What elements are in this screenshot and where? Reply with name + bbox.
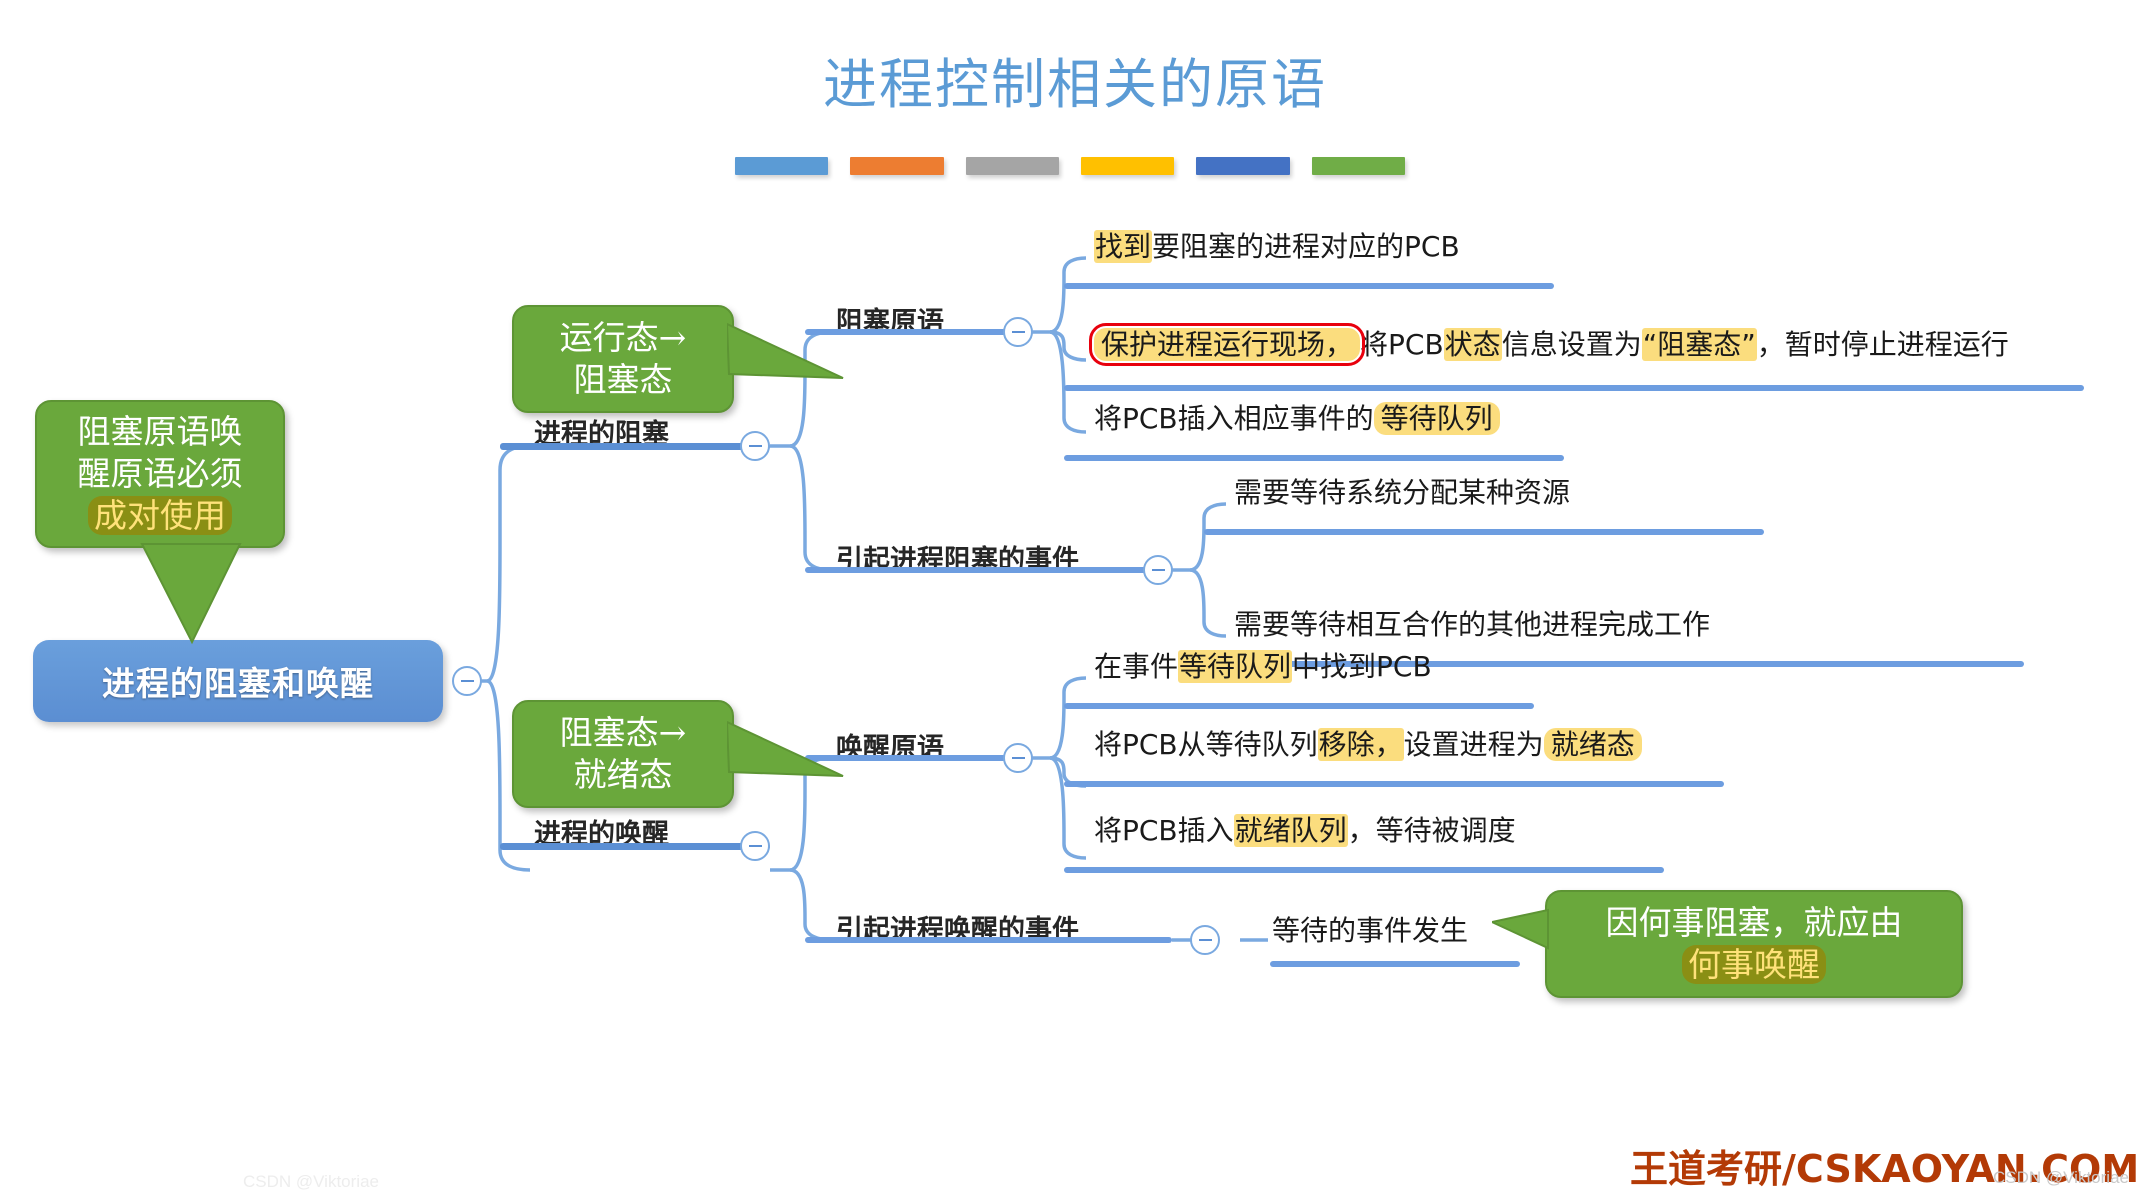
leaf-underline-find-pcb-in-queue xyxy=(1064,703,1534,709)
root-node[interactable]: 进程的阻塞和唤醒 xyxy=(33,640,443,722)
branch-underline-wake xyxy=(500,843,770,850)
callout-pair-line2: 醒原语必须 xyxy=(78,453,243,495)
callout-block-to-ready-tail xyxy=(727,718,847,790)
collapse-toggle-block-primitive[interactable] xyxy=(1003,317,1033,347)
collapse-toggle-wake-primitive[interactable] xyxy=(1003,743,1033,773)
leaf-find-pcb[interactable]: 找到要阻塞的进程对应的PCB xyxy=(1094,232,1460,263)
leaf-insert-ready-queue-hl: 就绪队列 xyxy=(1234,814,1348,847)
leaf-remove-from-queue-p2: 设置进程为 xyxy=(1404,728,1544,761)
csdn-watermark-ghost: CSDN @Viktoriae xyxy=(243,1172,379,1192)
leaf-protect-scene-hl: 保护进程运行现场， xyxy=(1094,328,1360,361)
leaf-underline-insert-wait-queue xyxy=(1064,455,1564,461)
accent-bar-orange xyxy=(850,157,943,175)
leaf-underline-insert-ready-queue xyxy=(1064,867,1664,873)
leaf-protect-scene-p2: 信息设置为 xyxy=(1502,328,1642,361)
accent-bar-navy xyxy=(1196,157,1289,175)
leaf-underline-protect-scene xyxy=(1064,385,2084,391)
accent-bar-green xyxy=(1312,157,1405,175)
leaf-wait-resource[interactable]: 需要等待系统分配某种资源 xyxy=(1234,478,1570,509)
callout-block-to-ready: 阻塞态→ 就绪态 xyxy=(512,700,734,808)
page-title: 进程控制相关的原语 xyxy=(0,40,2150,119)
callout-block-to-ready-line2: 就绪态 xyxy=(574,754,673,796)
leaf-protect-scene-p3: ，暂时停止进程运行 xyxy=(1757,328,2009,361)
leaf-remove-from-queue[interactable]: 将PCB从等待队列移除，设置进程为就绪态 xyxy=(1094,730,1642,761)
callout-pair-usage: 阻塞原语唤 醒原语必须 成对使用 xyxy=(35,400,285,548)
leaf-underline-event-occurs xyxy=(1270,961,1520,967)
branch-underline-block xyxy=(500,443,770,450)
callout-why-wake-tail xyxy=(1492,908,1552,958)
leaf-remove-from-queue-hl2: 就绪态 xyxy=(1544,728,1642,761)
csdn-watermark: CSDN @Viktoriae xyxy=(1993,1168,2129,1188)
leaf-find-pcb-in-queue-p2: 中找到PCB xyxy=(1292,650,1432,683)
callout-pair-line1: 阻塞原语唤 xyxy=(78,411,243,453)
collapse-toggle-block-events[interactable] xyxy=(1143,555,1173,585)
leaf-event-occurs[interactable]: 等待的事件发生 xyxy=(1272,916,1468,947)
collapse-toggle-block[interactable] xyxy=(740,431,770,461)
leaf-protect-scene-hl2: 状态 xyxy=(1444,328,1502,361)
callout-why-wake-line2: 何事唤醒 xyxy=(1682,945,1826,984)
accent-bar-blue xyxy=(735,157,828,175)
accent-bar-gold xyxy=(1081,157,1174,175)
connector-wires xyxy=(0,0,2150,1200)
leaf-find-pcb-in-queue[interactable]: 在事件等待队列中找到PCB xyxy=(1094,652,1432,683)
leaf-wait-cooperate[interactable]: 需要等待相互合作的其他进程完成工作 xyxy=(1234,610,1710,641)
leaf-underline-wait-resource xyxy=(1204,529,1764,535)
callout-pair-line3: 成对使用 xyxy=(88,496,232,535)
leaf-find-pcb-in-queue-p1: 在事件 xyxy=(1094,650,1178,683)
leaf-insert-ready-queue-p1: 将PCB插入 xyxy=(1094,814,1234,847)
leaf-protect-scene[interactable]: 保护进程运行现场，将PCB状态信息设置为“阻塞态”，暂时停止进程运行 xyxy=(1094,330,2009,361)
callout-why-wake: 因何事阻塞，就应由 何事唤醒 xyxy=(1545,890,1963,998)
callout-run-to-block-line1: 运行态→ xyxy=(560,317,687,359)
leaf-underline-find-pcb xyxy=(1064,283,1554,289)
collapse-toggle-wake[interactable] xyxy=(740,831,770,861)
callout-run-to-block: 运行态→ 阻塞态 xyxy=(512,305,734,413)
leaf-protect-scene-p1: 将PCB xyxy=(1360,328,1444,361)
leaf-insert-ready-queue-p2: ，等待被调度 xyxy=(1348,814,1516,847)
callout-run-to-block-tail xyxy=(727,320,847,392)
collapse-toggle-wake-events[interactable] xyxy=(1190,925,1220,955)
leaf-find-pcb-hl: 找到 xyxy=(1094,230,1152,263)
leaf-remove-from-queue-p1: 将PCB从等待队列 xyxy=(1094,728,1318,761)
leaf-insert-wait-queue[interactable]: 将PCB插入相应事件的等待队列 xyxy=(1094,404,1500,435)
callout-pair-tail xyxy=(140,542,270,652)
subtopic-underline-wake-events xyxy=(805,937,1172,943)
collapse-toggle-root[interactable] xyxy=(452,666,482,696)
accent-bar-group xyxy=(735,157,1405,175)
leaf-find-pcb-in-queue-hl: 等待队列 xyxy=(1178,650,1292,683)
slide-canvas: 进程控制相关的原语 xyxy=(0,0,2150,1200)
leaf-underline-remove-from-queue xyxy=(1064,781,1724,787)
leaf-protect-scene-hl3: “阻塞态” xyxy=(1642,328,1757,361)
callout-run-to-block-line2: 阻塞态 xyxy=(574,359,673,401)
root-node-label: 进程的阻塞和唤醒 xyxy=(102,657,374,705)
leaf-find-pcb-rest: 要阻塞的进程对应的PCB xyxy=(1152,230,1460,263)
callout-why-wake-line1: 因何事阻塞，就应由 xyxy=(1606,902,1903,944)
leaf-insert-ready-queue[interactable]: 将PCB插入就绪队列，等待被调度 xyxy=(1094,816,1516,847)
leaf-insert-wait-queue-p1: 将PCB插入相应事件的 xyxy=(1094,402,1374,435)
leaf-insert-wait-queue-hl: 等待队列 xyxy=(1374,402,1500,435)
leaf-remove-from-queue-hl1: 移除， xyxy=(1318,728,1404,761)
callout-block-to-ready-line1: 阻塞态→ xyxy=(560,712,687,754)
accent-bar-gray xyxy=(966,157,1059,175)
subtopic-underline-block-events xyxy=(805,567,1172,573)
